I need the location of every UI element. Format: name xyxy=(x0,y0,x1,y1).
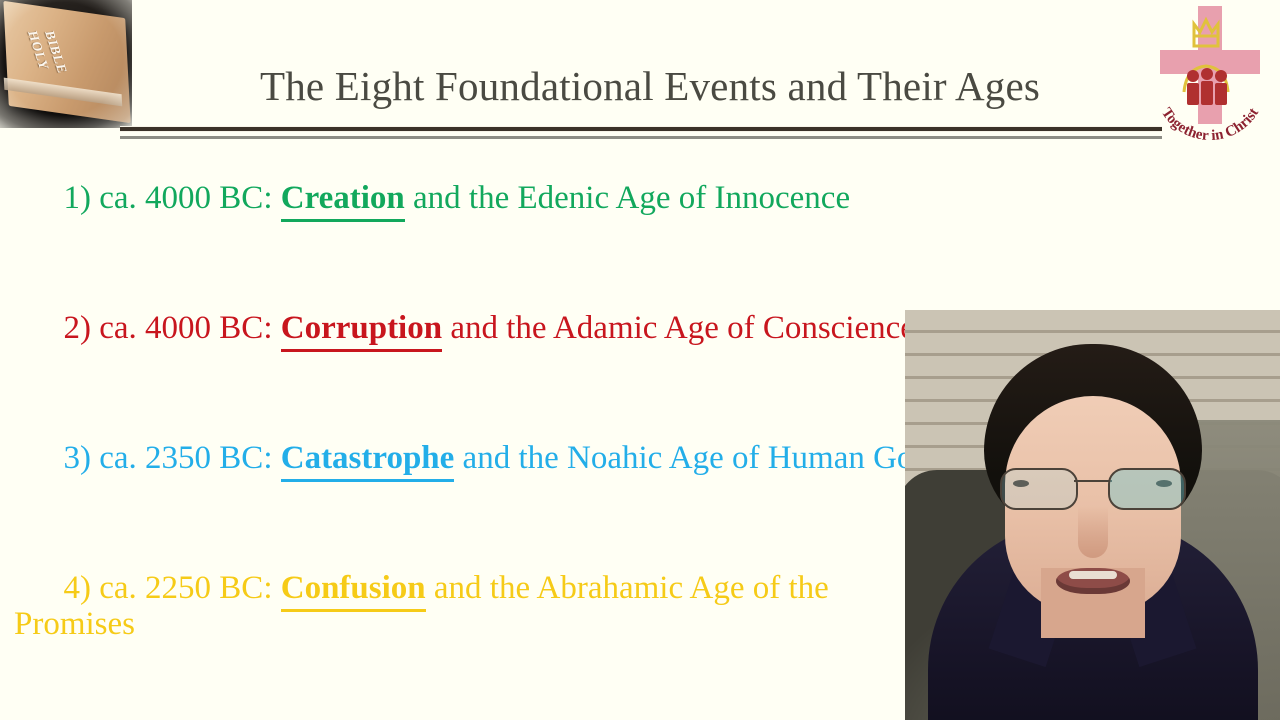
three-figures-icon xyxy=(1187,68,1227,105)
event-3-keyword: Catastrophe xyxy=(281,440,455,476)
speaker-nose xyxy=(1078,506,1108,558)
event-line-4: 4) ca. 2250 BC: Confusion and the Abraha… xyxy=(14,534,904,678)
glasses-lens-left xyxy=(1000,468,1078,510)
presentation-slide: HOLY BIBLE The Eight Foundational Events… xyxy=(0,0,1280,720)
event-4-keyword: Confusion xyxy=(281,570,426,606)
together-in-christ-logo: Together in Christ xyxy=(1146,2,1274,142)
event-1-number: 1) xyxy=(64,180,92,216)
title-divider-thick xyxy=(120,126,1162,132)
event-3-suffix: and the Noahic Age of Human Gov’t xyxy=(454,440,949,476)
event-2-keyword: Corruption xyxy=(281,310,442,346)
event-1-prefix: ca. 4000 BC: xyxy=(91,180,281,216)
event-2-number: 2) xyxy=(64,310,92,346)
speaker-teeth xyxy=(1069,571,1117,579)
speaker-video-overlay[interactable] xyxy=(905,310,1280,720)
title-divider-thin xyxy=(120,136,1162,139)
event-3-number: 3) xyxy=(64,440,92,476)
event-2-prefix: ca. 4000 BC: xyxy=(91,310,281,346)
glasses-lens-right xyxy=(1108,468,1186,510)
event-4-number: 4) xyxy=(64,570,92,606)
holy-bible-photo: HOLY BIBLE xyxy=(0,0,132,128)
event-4-prefix: ca. 2250 BC: xyxy=(91,570,281,606)
event-line-1: 1) ca. 4000 BC: Creation and the Edenic … xyxy=(14,144,1266,252)
event-3-prefix: ca. 2350 BC: xyxy=(91,440,281,476)
event-1-keyword: Creation xyxy=(281,180,405,216)
glasses-bridge xyxy=(1074,480,1112,482)
slide-title: The Eight Foundational Events and Their … xyxy=(150,62,1150,110)
event-2-suffix: and the Adamic Age of Conscience xyxy=(442,310,915,346)
logo-svg: Together in Christ xyxy=(1146,2,1274,142)
speaker-glasses xyxy=(1000,468,1186,508)
event-1-suffix: and the Edenic Age of Innocence xyxy=(405,180,850,216)
